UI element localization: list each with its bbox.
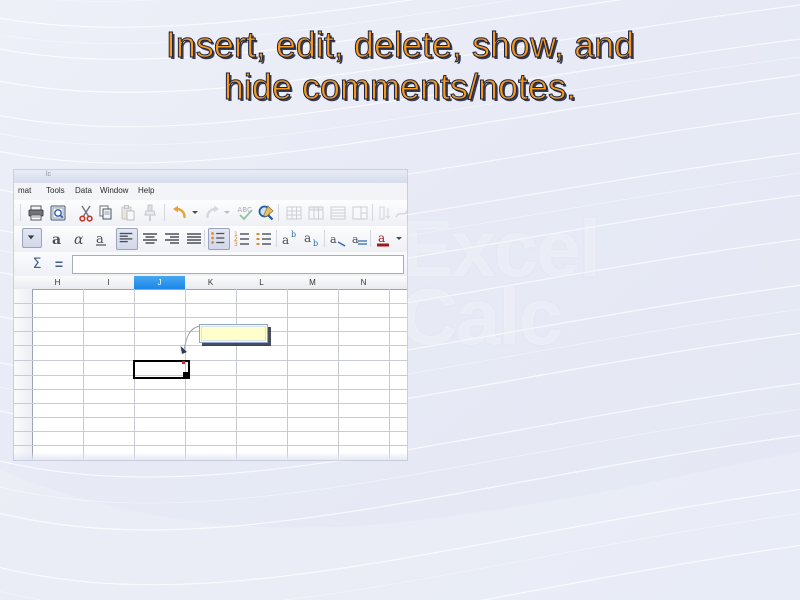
toolbar-separator <box>164 204 165 221</box>
sort-icon-2[interactable] <box>392 203 407 223</box>
formula-bar: Σ = <box>14 252 407 277</box>
gridline-horizontal <box>14 445 407 446</box>
print-icon[interactable] <box>26 203 46 223</box>
table-icon-4[interactable] <box>350 203 370 223</box>
column-header-k[interactable]: K <box>185 276 237 290</box>
toolbar-separator <box>276 230 277 247</box>
gridline-horizontal <box>14 360 407 361</box>
italic-icon[interactable]: α <box>70 229 90 249</box>
table-icon-3[interactable] <box>328 203 348 223</box>
spelling-icon[interactable]: ABC <box>236 203 256 223</box>
clone-formatting-icon[interactable] <box>140 203 160 223</box>
formatting-toolbar: a α a <box>14 226 407 253</box>
screenshot-bottom-fade <box>14 452 407 460</box>
slide-canvas: Excel Calc Insert, edit, delete, show, a… <box>0 0 800 600</box>
column-header-m[interactable]: M <box>287 276 339 290</box>
increase-indent-icon[interactable]: a <box>328 229 348 249</box>
column-header-j[interactable]: J <box>134 276 186 290</box>
comment-box-inner <box>201 326 266 341</box>
menu-item-help[interactable]: Help <box>138 186 154 195</box>
column-header-n[interactable]: N <box>338 276 390 290</box>
svg-text:b: b <box>313 239 318 248</box>
svg-text:a: a <box>378 231 385 245</box>
bullet-list-icon[interactable] <box>208 228 230 250</box>
embedded-calc-screenshot: lc mat Tools Data Window Help <box>14 170 407 460</box>
undo-icon[interactable] <box>170 203 190 223</box>
numbered-list-icon[interactable]: 123 <box>232 229 252 249</box>
column-header-l[interactable]: L <box>236 276 288 290</box>
menu-bar: mat Tools Data Window Help <box>14 183 407 201</box>
sum-button[interactable]: Σ <box>28 256 46 272</box>
window-titlebar: lc <box>14 170 407 184</box>
align-center-icon[interactable] <box>140 229 160 249</box>
gridline-horizontal <box>14 417 407 418</box>
select-all-corner[interactable] <box>14 276 33 290</box>
print-preview-icon[interactable] <box>48 203 68 223</box>
decrease-indent-icon[interactable]: a <box>350 229 370 249</box>
paste-icon[interactable] <box>118 203 138 223</box>
spreadsheet-grid[interactable]: H I J K L M N <box>14 276 407 460</box>
superscript-icon[interactable]: a b <box>280 229 300 249</box>
gridline-horizontal <box>14 317 407 318</box>
svg-text:a: a <box>52 232 61 248</box>
comment-marker-icon <box>182 361 185 364</box>
font-size-dropdown[interactable] <box>22 228 42 248</box>
svg-text:a: a <box>304 231 311 245</box>
menu-item-data[interactable]: Data <box>75 186 92 195</box>
copy-icon[interactable] <box>96 203 116 223</box>
menu-item-window[interactable]: Window <box>100 186 128 195</box>
column-header-partial[interactable] <box>389 276 407 290</box>
align-justify-icon[interactable] <box>184 229 204 249</box>
background-watermark: Excel Calc <box>400 215 730 345</box>
toolbar-separator <box>278 204 279 221</box>
gridline-horizontal <box>14 403 407 404</box>
column-header-h[interactable]: H <box>32 276 84 290</box>
toolbar-separator <box>372 204 373 221</box>
svg-text:a: a <box>330 233 337 246</box>
menu-item-format[interactable]: mat <box>18 186 31 195</box>
column-header-row: H I J K L M N <box>14 276 407 289</box>
gridline-horizontal <box>14 303 407 304</box>
window-title-text: lc <box>46 171 51 178</box>
slide-title: Insert, edit, delete, show, and hide com… <box>40 24 760 108</box>
formula-button[interactable]: = <box>50 256 68 272</box>
bold-icon[interactable]: a <box>48 229 68 249</box>
toolbar-separator <box>20 204 21 221</box>
svg-text:a: a <box>352 233 359 246</box>
font-color-dropdown-arrow[interactable] <box>396 237 402 240</box>
standard-toolbar: ABC <box>14 200 407 227</box>
toolbar-separator <box>204 230 205 247</box>
svg-text:a: a <box>282 233 289 247</box>
formula-input[interactable] <box>72 255 404 274</box>
undo-dropdown-arrow[interactable] <box>192 211 198 214</box>
redo-icon[interactable] <box>202 203 222 223</box>
svg-text:3: 3 <box>234 241 238 248</box>
gridline-horizontal <box>14 389 407 390</box>
menu-item-tools[interactable]: Tools <box>46 186 65 195</box>
table-icon-1[interactable] <box>284 203 304 223</box>
comment-box[interactable] <box>199 324 268 343</box>
toolbar-separator <box>324 230 325 247</box>
align-left-icon[interactable] <box>116 228 138 250</box>
font-color-icon[interactable]: a <box>374 229 394 249</box>
align-right-icon[interactable] <box>162 229 182 249</box>
gridline-horizontal <box>14 431 407 432</box>
subscript-icon[interactable]: a b <box>302 229 322 249</box>
gridline-horizontal <box>14 345 407 346</box>
svg-text:b: b <box>291 230 296 239</box>
toolbar-separator <box>370 230 371 247</box>
gridline-horizontal <box>14 375 407 376</box>
find-replace-icon[interactable] <box>256 203 276 223</box>
svg-text:α: α <box>74 232 84 248</box>
no-list-icon[interactable] <box>254 229 274 249</box>
redo-dropdown-arrow[interactable] <box>224 211 230 214</box>
table-icon-2[interactable] <box>306 203 326 223</box>
cut-icon[interactable] <box>76 203 96 223</box>
underline-icon[interactable]: a <box>92 229 112 249</box>
cell-fill-handle[interactable] <box>183 372 188 377</box>
column-header-i[interactable]: I <box>83 276 135 290</box>
